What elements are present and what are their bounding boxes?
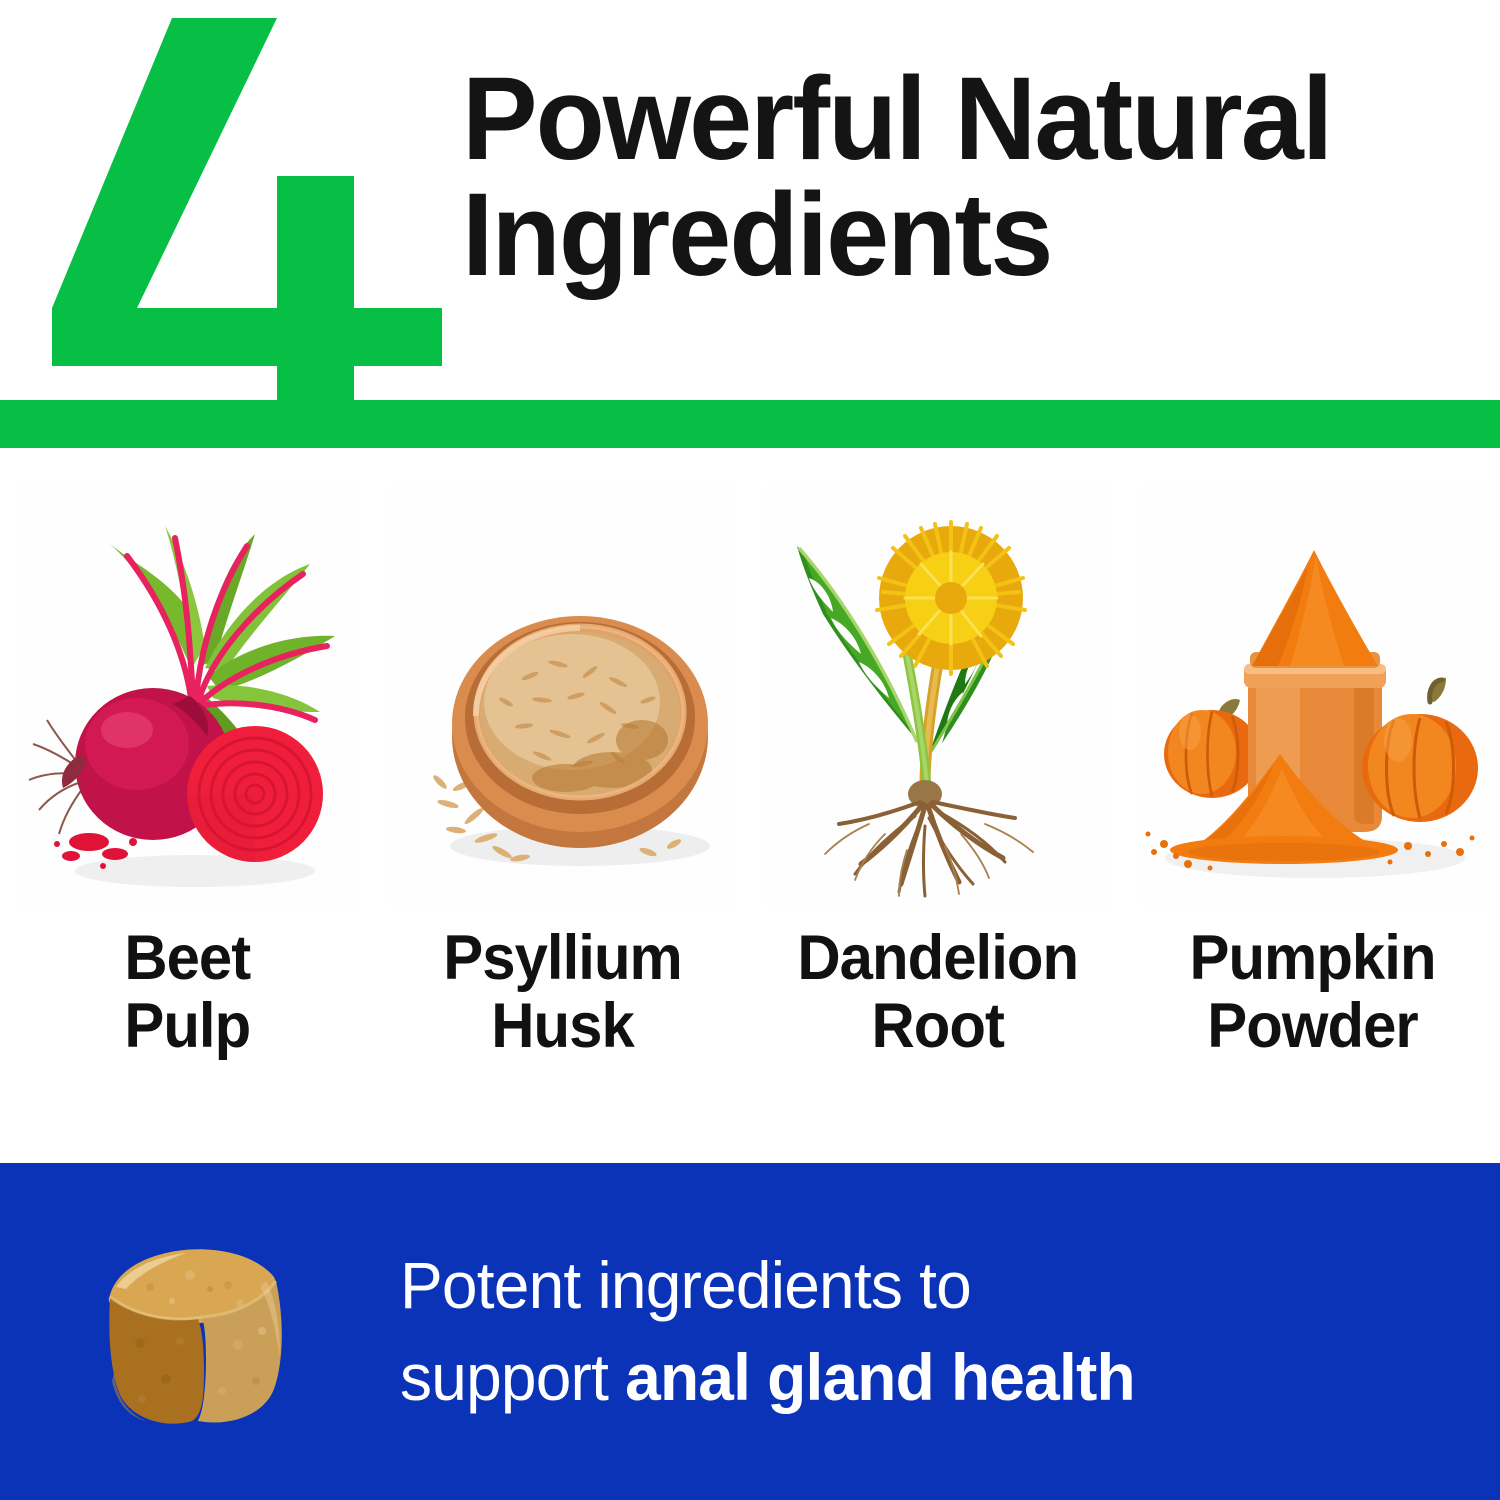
- dandelion-illustration: [765, 486, 1110, 906]
- benefit-line-2-normal: support: [400, 1340, 625, 1414]
- psyllium-bowl-illustration: [390, 486, 735, 906]
- ingredient-label-dandelion-root: Dandelion Root: [797, 924, 1078, 1060]
- page-title: Powerful Natural Ingredients: [462, 62, 1432, 293]
- label-line-1: Beet: [125, 924, 251, 992]
- ingredient-card-dandelion-root: Dandelion Root: [750, 452, 1125, 1162]
- ingredients-grid: Beet Pulp: [0, 452, 1500, 1162]
- label-line-2: Pulp: [125, 992, 251, 1060]
- chew-cube-illustration: [80, 1223, 305, 1443]
- header-section: Powerful Natural Ingredients: [0, 0, 1500, 450]
- label-line-2: Husk: [443, 992, 682, 1060]
- number-four-glyph: [42, 8, 442, 408]
- pumpkin-powder-illustration: [1140, 486, 1485, 906]
- ingredient-label-pumpkin-powder: Pumpkin Powder: [1189, 924, 1435, 1060]
- product-infographic: Powerful Natural Ingredients: [0, 0, 1500, 1500]
- benefit-line-2-bold: anal gland health: [625, 1340, 1135, 1414]
- label-line-1: Pumpkin: [1189, 924, 1435, 992]
- label-line-1: Dandelion: [797, 924, 1078, 992]
- pumpkin-powder-photo: [1140, 486, 1485, 906]
- ingredient-card-psyllium-husk: Psyllium Husk: [375, 452, 750, 1162]
- benefit-line-2: support anal gland health: [400, 1332, 1448, 1423]
- benefit-line-1: Potent ingredients to: [400, 1240, 1448, 1331]
- label-line-1: Psyllium: [443, 924, 682, 992]
- beet-pulp-photo: [15, 486, 360, 906]
- headline-line-1: Powerful Natural: [462, 53, 1331, 185]
- headline-line-2: Ingredients: [462, 178, 1432, 294]
- label-line-2: Powder: [1189, 992, 1435, 1060]
- beet-illustration: [15, 486, 360, 906]
- dandelion-root-photo: [765, 486, 1110, 906]
- soft-chew-cube: [0, 1163, 400, 1500]
- ingredient-label-beet-pulp: Beet Pulp: [125, 924, 251, 1060]
- label-line-2: Root: [797, 992, 1078, 1060]
- benefit-banner: Potent ingredients to support anal gland…: [0, 1163, 1500, 1500]
- green-divider-bar: [0, 400, 1500, 448]
- ingredient-card-beet-pulp: Beet Pulp: [0, 452, 375, 1162]
- ingredient-label-psyllium-husk: Psyllium Husk: [443, 924, 682, 1060]
- benefit-statement: Potent ingredients to support anal gland…: [400, 1240, 1467, 1422]
- big-number-four: [42, 8, 442, 408]
- psyllium-husk-photo: [390, 486, 735, 906]
- ingredient-card-pumpkin-powder: Pumpkin Powder: [1125, 452, 1500, 1162]
